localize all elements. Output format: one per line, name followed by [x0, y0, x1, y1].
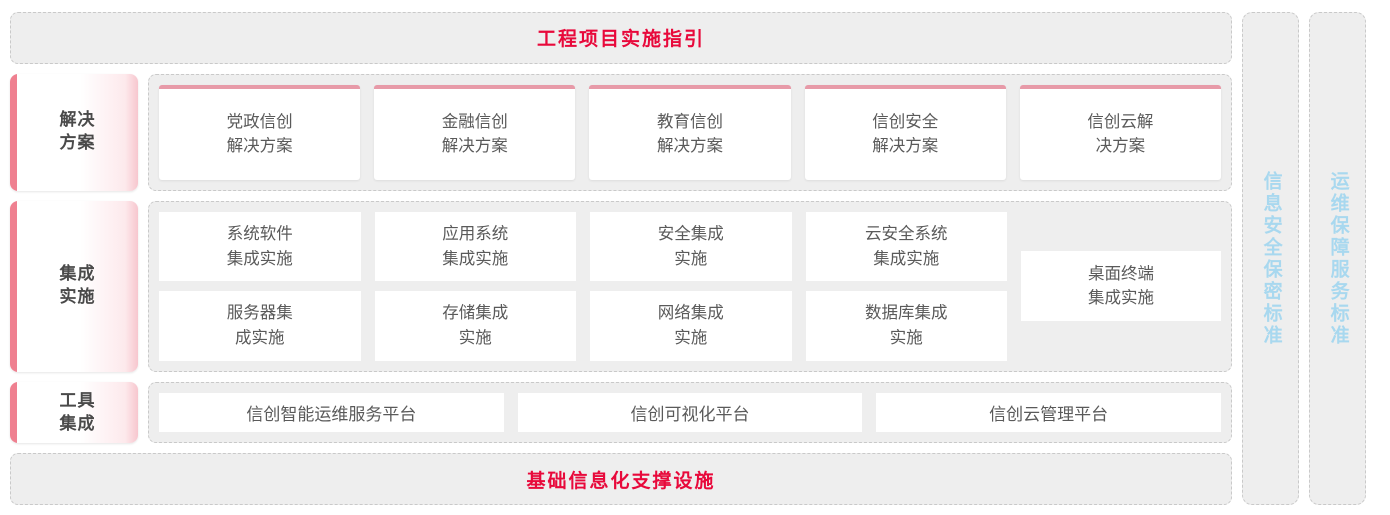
tool-card-label: 信创可视化平台 — [631, 400, 750, 425]
integration-side-wrapper: 桌面终端 集成实施 — [1021, 212, 1221, 361]
diagram-root: 工程项目实施指引 解决 方案 党政信创 解决方案 金融信创 解决方案 教育信创 … — [0, 0, 1390, 515]
header-banner: 工程项目实施指引 — [10, 12, 1232, 64]
integration-card[interactable]: 安全集成 实施 — [590, 212, 792, 281]
standard-column-operations-label: 运维保障服务标准 — [1324, 171, 1350, 347]
footer-banner: 基础信息化支撑设施 — [10, 453, 1232, 505]
panel-tool: 信创智能运维服务平台 信创可视化平台 信创云管理平台 — [148, 382, 1232, 444]
solution-card-label: 信创云解 决方案 — [1087, 110, 1153, 160]
footer-title: 基础信息化支撑设施 — [526, 466, 715, 493]
tool-card-label: 信创云管理平台 — [989, 400, 1108, 425]
page-title: 工程项目实施指引 — [537, 24, 705, 51]
solution-card-label: 信创安全 解决方案 — [872, 110, 938, 160]
integration-card[interactable]: 云安全系统 集成实施 — [806, 212, 1008, 281]
solution-card[interactable]: 教育信创 解决方案 — [589, 85, 790, 180]
main-column: 工程项目实施指引 解决 方案 党政信创 解决方案 金融信创 解决方案 教育信创 … — [10, 12, 1232, 505]
integration-card[interactable]: 应用系统 集成实施 — [375, 212, 577, 281]
tool-card[interactable]: 信创智能运维服务平台 — [159, 393, 504, 433]
standard-column-security[interactable]: 信息安全保密标准 — [1242, 12, 1299, 505]
standard-column-operations[interactable]: 运维保障服务标准 — [1309, 12, 1366, 505]
standards-columns: 信息安全保密标准 运维保障服务标准 — [1242, 12, 1380, 505]
row-label-integration[interactable]: 集成 实施 — [10, 201, 138, 372]
panel-integration: 系统软件 集成实施 应用系统 集成实施 安全集成 实施 云安全系统 集成实施 服… — [148, 201, 1232, 372]
tool-card[interactable]: 信创可视化平台 — [518, 393, 863, 433]
solution-card[interactable]: 党政信创 解决方案 — [159, 85, 360, 180]
row-tool: 工具 集成 信创智能运维服务平台 信创可视化平台 信创云管理平台 — [10, 382, 1232, 444]
integration-card[interactable]: 存储集成 实施 — [375, 291, 577, 360]
row-label-tool[interactable]: 工具 集成 — [10, 382, 138, 444]
row-solution: 解决 方案 党政信创 解决方案 金融信创 解决方案 教育信创 解决方案 信创安全… — [10, 74, 1232, 191]
integration-card[interactable]: 系统软件 集成实施 — [159, 212, 361, 281]
solution-card[interactable]: 信创安全 解决方案 — [805, 85, 1006, 180]
panel-solution: 党政信创 解决方案 金融信创 解决方案 教育信创 解决方案 信创安全 解决方案 … — [148, 74, 1232, 191]
integration-card-label: 存储集成 实施 — [442, 301, 508, 351]
solution-card-label: 党政信创 解决方案 — [227, 110, 293, 160]
solution-card[interactable]: 金融信创 解决方案 — [374, 85, 575, 180]
solution-card-label: 教育信创 解决方案 — [657, 110, 723, 160]
integration-grid: 系统软件 集成实施 应用系统 集成实施 安全集成 实施 云安全系统 集成实施 服… — [159, 212, 1007, 361]
solution-card[interactable]: 信创云解 决方案 — [1020, 85, 1221, 180]
integration-card-label: 网络集成 实施 — [658, 301, 724, 351]
integration-card-label: 数据库集成 实施 — [865, 301, 948, 351]
standard-column-security-label: 信息安全保密标准 — [1257, 171, 1283, 347]
integration-card-desktop-terminal-label: 桌面终端 集成实施 — [1088, 262, 1154, 312]
row-integration: 集成 实施 系统软件 集成实施 应用系统 集成实施 安全集成 实施 云安全系统 … — [10, 201, 1232, 372]
tool-card-label: 信创智能运维服务平台 — [246, 400, 416, 425]
row-label-solution[interactable]: 解决 方案 — [10, 74, 138, 191]
integration-card[interactable]: 数据库集成 实施 — [806, 291, 1008, 360]
integration-card-label: 云安全系统 集成实施 — [865, 222, 948, 272]
integration-card-label: 安全集成 实施 — [658, 222, 724, 272]
solution-card-label: 金融信创 解决方案 — [442, 110, 508, 160]
integration-card[interactable]: 服务器集 成实施 — [159, 291, 361, 360]
integration-card-desktop-terminal[interactable]: 桌面终端 集成实施 — [1021, 251, 1221, 321]
integration-card[interactable]: 网络集成 实施 — [590, 291, 792, 360]
integration-card-label: 系统软件 集成实施 — [227, 222, 293, 272]
integration-card-label: 服务器集 成实施 — [227, 301, 293, 351]
integration-card-label: 应用系统 集成实施 — [442, 222, 508, 272]
tool-card[interactable]: 信创云管理平台 — [876, 393, 1221, 433]
row-label-tool-text: 工具 集成 — [53, 390, 96, 436]
row-label-solution-text: 解决 方案 — [53, 109, 96, 155]
row-label-integration-text: 集成 实施 — [53, 263, 96, 309]
